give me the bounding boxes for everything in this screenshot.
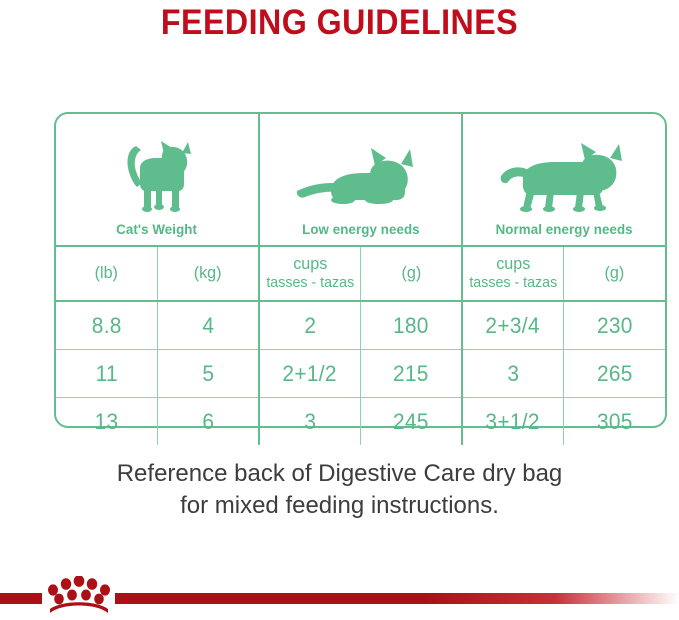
cell-low-cups: 3 — [259, 398, 361, 446]
unit-main: cups — [496, 254, 530, 273]
unit-cell-cups-normal: cups tasses - tazas — [462, 246, 564, 301]
table-unit-header-row: (lb) (kg) cups tasses - tazas (g) cups t… — [56, 246, 665, 301]
cell-normal-cups: 3+1/2 — [462, 398, 564, 446]
cell-normal-grams: 305 — [564, 398, 666, 446]
cell-normal-cups: 2+3/4 — [462, 301, 564, 350]
cell-weight-kg: 5 — [158, 350, 260, 398]
unit-main: (g) — [605, 263, 625, 282]
table-row: 8.8 4 2 180 2+3/4 230 — [56, 301, 665, 350]
cell-normal-grams: 230 — [564, 301, 666, 350]
standing-cat-icon — [116, 136, 198, 214]
cell-low-cups: 2 — [259, 301, 361, 350]
header-cell-normal-energy: Normal energy needs — [462, 114, 665, 246]
unit-cell-lb: (lb) — [56, 246, 158, 301]
footer — [0, 556, 679, 615]
icon-label: Low energy needs — [302, 221, 420, 237]
cell-weight-lb: 8.8 — [56, 301, 158, 350]
cell-low-grams: 245 — [361, 398, 463, 446]
page-title: FEEDING GUIDELINES — [27, 0, 652, 44]
header-cell-low-energy: Low energy needs — [259, 114, 462, 246]
cell-weight-kg: 6 — [158, 398, 260, 446]
lying-cat-icon — [291, 142, 431, 214]
footnote-line-1: Reference back of Digestive Care dry bag — [0, 458, 679, 490]
unit-main: (kg) — [194, 263, 222, 282]
footer-bar-left — [0, 593, 42, 604]
unit-cell-grams-low: (g) — [361, 246, 463, 301]
unit-sub: tasses - tazas — [469, 274, 557, 291]
cell-weight-lb: 11 — [56, 350, 158, 398]
icon-label: Cat's Weight — [117, 221, 198, 237]
unit-cell-kg: (kg) — [158, 246, 260, 301]
footnote: Reference back of Digestive Care dry bag… — [0, 458, 679, 522]
unit-cell-grams-normal: (g) — [564, 246, 666, 301]
footnote-line-2: for mixed feeding instructions. — [0, 490, 679, 522]
table-row: 13 6 3 245 3+1/2 305 — [56, 398, 665, 446]
unit-cell-cups-low: cups tasses - tazas — [259, 246, 361, 301]
cell-low-grams: 180 — [361, 301, 463, 350]
cell-low-grams: 215 — [361, 350, 463, 398]
unit-main: cups — [293, 254, 327, 273]
cell-low-cups: 2+1/2 — [259, 350, 361, 398]
unit-main: (g) — [401, 263, 421, 282]
cell-normal-grams: 265 — [564, 350, 666, 398]
unit-main: (lb) — [95, 263, 118, 282]
walking-cat-icon — [493, 140, 635, 214]
cell-weight-lb: 13 — [56, 398, 158, 446]
royal-canin-crown-logo — [44, 576, 114, 615]
table-row: 11 5 2+1/2 215 3 265 — [56, 350, 665, 398]
header-cell-cats-weight: Cat's Weight — [56, 114, 259, 246]
feeding-guidelines-table: Cat's Weight — [54, 112, 667, 428]
cell-weight-kg: 4 — [158, 301, 260, 350]
unit-sub: tasses - tazas — [266, 274, 354, 291]
table-icon-header-row: Cat's Weight — [56, 114, 665, 246]
icon-label: Normal energy needs — [495, 221, 632, 237]
footer-bar-right — [115, 593, 679, 604]
cell-normal-cups: 3 — [462, 350, 564, 398]
